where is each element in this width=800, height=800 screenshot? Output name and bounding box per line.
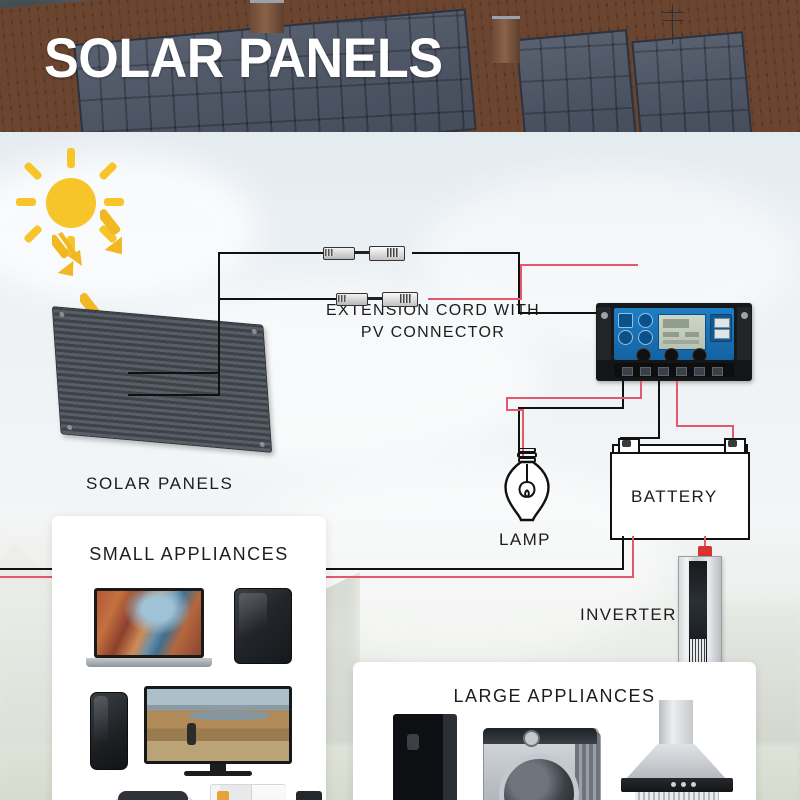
wire-positive-to-controller bbox=[520, 264, 638, 266]
controller-terminal bbox=[694, 367, 705, 376]
controller-solar-icon[interactable] bbox=[638, 313, 653, 328]
large-appliances-panel: LARGE APPLIANCES bbox=[353, 662, 756, 800]
sun-ray bbox=[104, 198, 124, 206]
sun-ray bbox=[98, 161, 118, 181]
controller-usb-ports bbox=[710, 314, 732, 342]
antenna-icon bbox=[672, 4, 673, 44]
solar-panel-device bbox=[52, 306, 272, 453]
sun-ray bbox=[23, 161, 43, 181]
small-appliances-panel: SMALL APPLIANCES bbox=[52, 516, 326, 800]
chimney-right bbox=[492, 16, 520, 63]
wire-panel-positive bbox=[218, 298, 220, 396]
wire-bus-negative bbox=[622, 536, 624, 570]
controller-terminal bbox=[712, 367, 723, 376]
solar-panel-label: SOLAR PANELS bbox=[86, 474, 233, 494]
wire-load-negative bbox=[622, 381, 624, 409]
lamp-icon bbox=[497, 448, 557, 526]
wire-battery-negative bbox=[658, 381, 660, 439]
inverter-label: INVERTER bbox=[580, 605, 677, 625]
rice-cooker-icon bbox=[110, 796, 198, 800]
wire-load-positive bbox=[506, 397, 642, 399]
controller-battery-icon[interactable] bbox=[638, 330, 653, 345]
wiring-diagram: SOLAR PANELS EXTENSION CORD WITH PV CONN… bbox=[0, 132, 800, 800]
television-icon bbox=[144, 686, 292, 778]
wire-positive-run bbox=[520, 264, 522, 300]
solar-charge-controller[interactable] bbox=[596, 303, 752, 381]
controller-terminal bbox=[676, 367, 687, 376]
sun-core bbox=[46, 178, 96, 228]
header-photo-banner: SOLAR PANELS bbox=[0, 0, 800, 132]
controller-terminal bbox=[658, 367, 669, 376]
washing-machine-icon bbox=[483, 728, 603, 800]
wire-panel-positive bbox=[128, 394, 220, 396]
roof-solar-panel-2 bbox=[515, 29, 636, 132]
wire-battery-positive bbox=[676, 425, 734, 427]
wire-bus-positive bbox=[632, 536, 634, 578]
wire-positive-run bbox=[218, 298, 336, 300]
sun-ray bbox=[16, 198, 36, 206]
wire-load-negative bbox=[518, 407, 624, 409]
laptop-icon bbox=[94, 588, 220, 670]
product-infographic: SOLAR PANELS bbox=[0, 0, 800, 800]
battery-label: BATTERY bbox=[631, 487, 718, 507]
sun-ray bbox=[67, 148, 75, 168]
controller-power-icon[interactable] bbox=[618, 330, 633, 345]
wire-positive-run bbox=[428, 298, 522, 300]
wire-panel-negative bbox=[128, 372, 220, 374]
battery-terminal-knob bbox=[728, 440, 737, 447]
controller-terminal-block bbox=[596, 360, 752, 380]
controller-terminal bbox=[640, 367, 651, 376]
roof-solar-panel-3 bbox=[631, 31, 752, 132]
controller-terminal-strip bbox=[614, 363, 734, 377]
down-arrow-icon bbox=[52, 232, 92, 280]
wire-battery-positive bbox=[676, 381, 678, 427]
mc4-connector-upper bbox=[323, 246, 405, 259]
controller-lcd-display bbox=[658, 314, 706, 350]
lamp-label: LAMP bbox=[499, 530, 551, 550]
refrigerator-icon bbox=[393, 714, 459, 800]
extension-cord-label-line2: PV CONNECTOR bbox=[308, 322, 558, 344]
down-arrow-icon bbox=[100, 206, 144, 258]
range-hood-icon bbox=[625, 700, 735, 800]
mc4-connector-lower bbox=[336, 292, 418, 305]
mini-fridge-icon bbox=[210, 784, 286, 800]
inverter-device bbox=[678, 556, 722, 672]
wire-negative-run bbox=[218, 252, 323, 254]
controller-terminal bbox=[622, 367, 633, 376]
controller-menu-icon[interactable] bbox=[618, 313, 633, 328]
extension-cord-label: EXTENSION CORD WITH PV CONNECTOR bbox=[308, 300, 558, 344]
small-appliances-title: SMALL APPLIANCES bbox=[52, 544, 326, 565]
page-title: SOLAR PANELS bbox=[44, 30, 443, 86]
sun-ray bbox=[23, 224, 43, 244]
battery-terminal-knob bbox=[622, 440, 631, 447]
controller-faceplate bbox=[614, 308, 734, 360]
wire-negative-run bbox=[412, 252, 520, 254]
